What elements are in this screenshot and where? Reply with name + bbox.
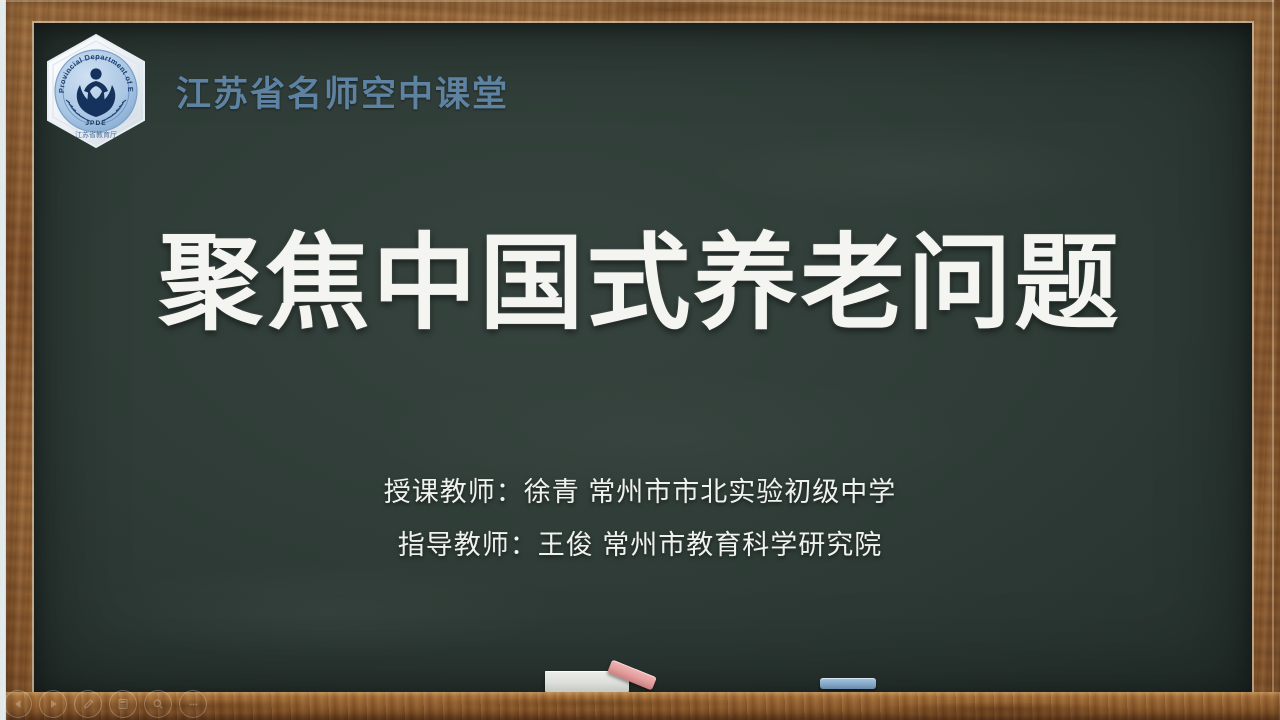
svg-text:JPDE: JPDE <box>85 120 106 127</box>
more-icon[interactable] <box>179 690 207 718</box>
jpde-emblem-icon: Jiangsu Provincial Department of Educati… <box>34 29 158 153</box>
teacher-credits: 授课教师：徐青 常州市市北实验初级中学 指导教师：王俊 常州市教育科学研究院 <box>0 466 1280 571</box>
credit-line-instructor: 授课教师：徐青 常州市市北实验初级中学 <box>0 466 1280 519</box>
credit-line-advisor: 指导教师：王俊 常州市教育科学研究院 <box>0 519 1280 572</box>
pencil-icon[interactable] <box>74 690 102 718</box>
back-icon[interactable] <box>4 690 32 718</box>
presentation-slide: Jiangsu Provincial Department of Educati… <box>0 0 1280 720</box>
slide-header: Jiangsu Provincial Department of Educati… <box>34 29 509 153</box>
search-icon[interactable] <box>144 690 172 718</box>
lesson-title: 聚焦中国式养老问题 <box>0 226 1280 342</box>
calculator-icon[interactable] <box>109 690 137 718</box>
player-toolbar[interactable] <box>4 690 207 718</box>
play-icon[interactable] <box>39 690 67 718</box>
organisation-title: 江苏省名师空中课堂 <box>176 66 509 117</box>
blue-chalk-stick <box>820 678 876 689</box>
svg-text:江苏省教育厅: 江苏省教育厅 <box>75 130 117 139</box>
